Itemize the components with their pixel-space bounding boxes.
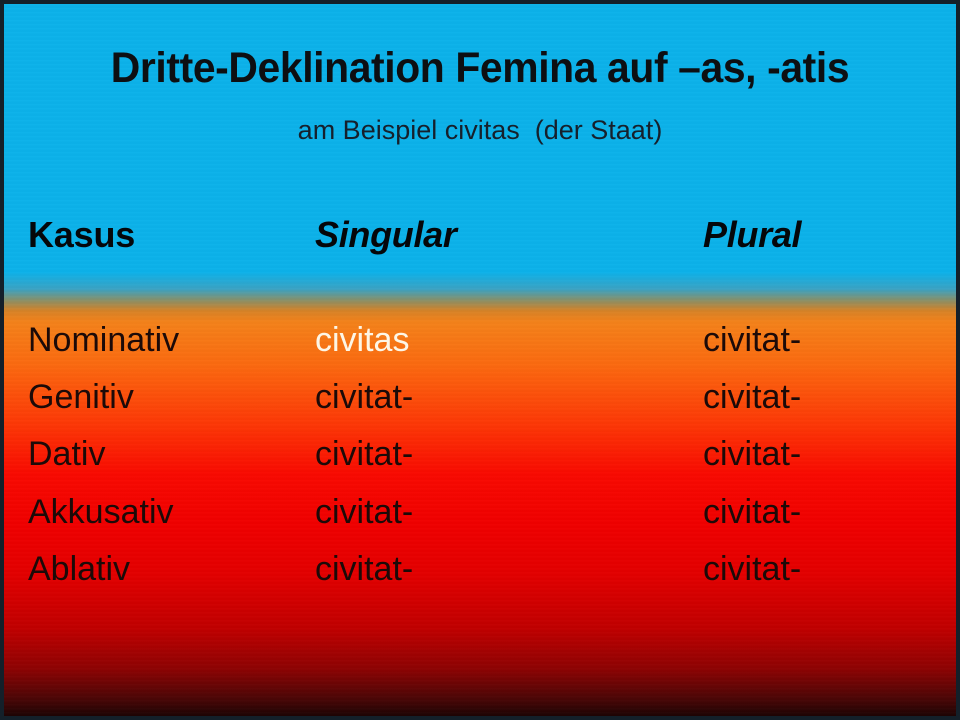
column-header-plural: Plural	[703, 210, 801, 260]
cell-singular: civitat-	[315, 544, 413, 594]
cell-case: Dativ	[28, 429, 105, 479]
cell-case: Nominativ	[28, 315, 179, 365]
table-row: Dativ civitat- civitat-	[4, 429, 956, 479]
cell-plural: civitat-	[703, 315, 801, 365]
table-row: Genitiv civitat- civitat-	[4, 372, 956, 422]
cell-plural: civitat-	[703, 487, 801, 537]
cell-singular: civitas	[315, 315, 409, 365]
slide-canvas: Dritte-Deklination Femina auf –as, -atis…	[0, 0, 960, 720]
column-header-singular: Singular	[315, 210, 457, 260]
cell-case: Ablativ	[28, 544, 130, 594]
slide-content: Dritte-Deklination Femina auf –as, -atis…	[4, 4, 956, 716]
column-header-case: Kasus	[28, 210, 135, 260]
table-row: Akkusativ civitat- civitat-	[4, 487, 956, 537]
table-row: Nominativ civitas civitat-	[4, 315, 956, 365]
cell-singular: civitat-	[315, 372, 413, 422]
cell-singular: civitat-	[315, 429, 413, 479]
cell-plural: civitat-	[703, 372, 801, 422]
cell-case: Akkusativ	[28, 487, 174, 537]
page-subtitle: am Beispiel civitas (der Staat)	[4, 115, 956, 146]
table-row: Ablativ civitat- civitat-	[4, 544, 956, 594]
cell-case: Genitiv	[28, 372, 134, 422]
cell-singular: civitat-	[315, 487, 413, 537]
page-title: Dritte-Deklination Femina auf –as, -atis	[28, 44, 932, 93]
cell-plural: civitat-	[703, 429, 801, 479]
cell-plural: civitat-	[703, 544, 801, 594]
table-header-row: Kasus Singular Plural	[4, 210, 956, 260]
